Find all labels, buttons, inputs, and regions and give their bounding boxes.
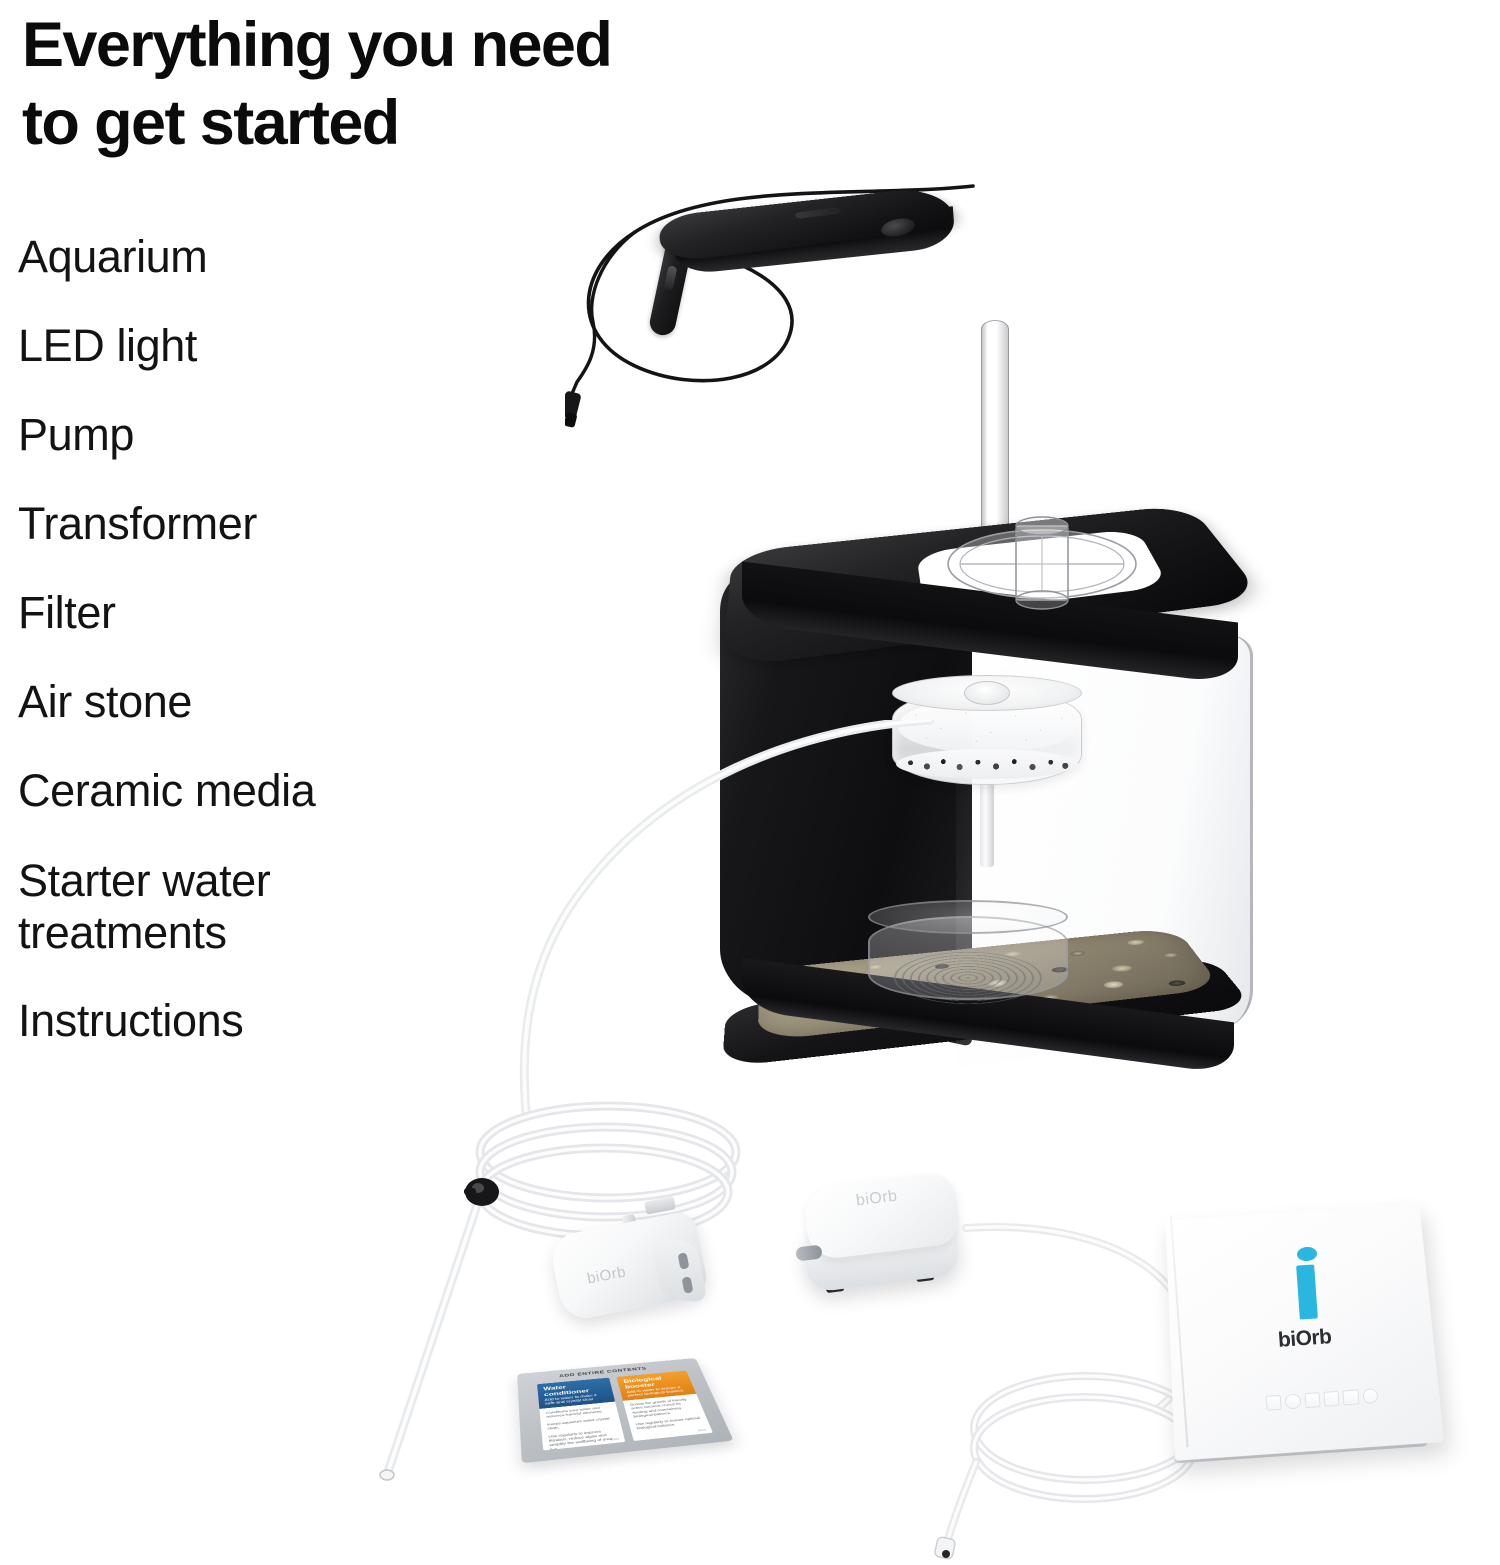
filter-cartridge-stem [980,781,994,867]
info-icon-stem [1296,1264,1318,1319]
headline-line-1: Everything you need [22,6,952,84]
sachet-body: Conditions your water and removes harmfu… [539,1402,625,1451]
water-treatment-sachets: ADD ENTIRE CONTENTS Water conditioner Ad… [520,1335,720,1490]
booklet-pictogram-icon [1304,1392,1320,1408]
led-light-unit [645,175,975,300]
sachet-panel-biological-booster: Biological booster Add to water to ensur… [617,1371,713,1441]
sachet-card: ADD ENTIRE CONTENTS Water conditioner Ad… [517,1358,734,1463]
top-filter-basket-icon [942,512,1142,632]
product-illustration: biOrb biOrb ADD ENTIRE CONTENTS [330,130,1500,1497]
sachet-body-line: Boosts the growth of friendly active bac… [630,1397,699,1419]
booklet-pictogram-icon [1362,1388,1378,1404]
sachet-body-line: Use regularly to improve filtration, red… [548,1428,619,1451]
filter-cartridge-hub [964,681,1010,705]
plug-pin-top [644,1196,676,1214]
sachet-volume-label: 50ml [697,1428,707,1432]
instruction-booklet: biOrb [1170,1205,1470,1495]
booklet-pictogram-icon [1285,1393,1301,1409]
booklet-pictogram-icon [1266,1394,1282,1410]
air-stone-valve-icon [452,1162,512,1222]
booklet-brand-label: biOrb [1277,1325,1332,1353]
sachet-body-line: Use regularly to ensure optimal biologic… [635,1416,703,1431]
transformer-plug: biOrb [545,1195,725,1325]
sachet-panel-water-conditioner: Water conditioner Add to water to make i… [537,1378,625,1451]
booklet-pictogram-icon [1343,1389,1359,1405]
booklet-pictogram-icon [1323,1390,1339,1406]
